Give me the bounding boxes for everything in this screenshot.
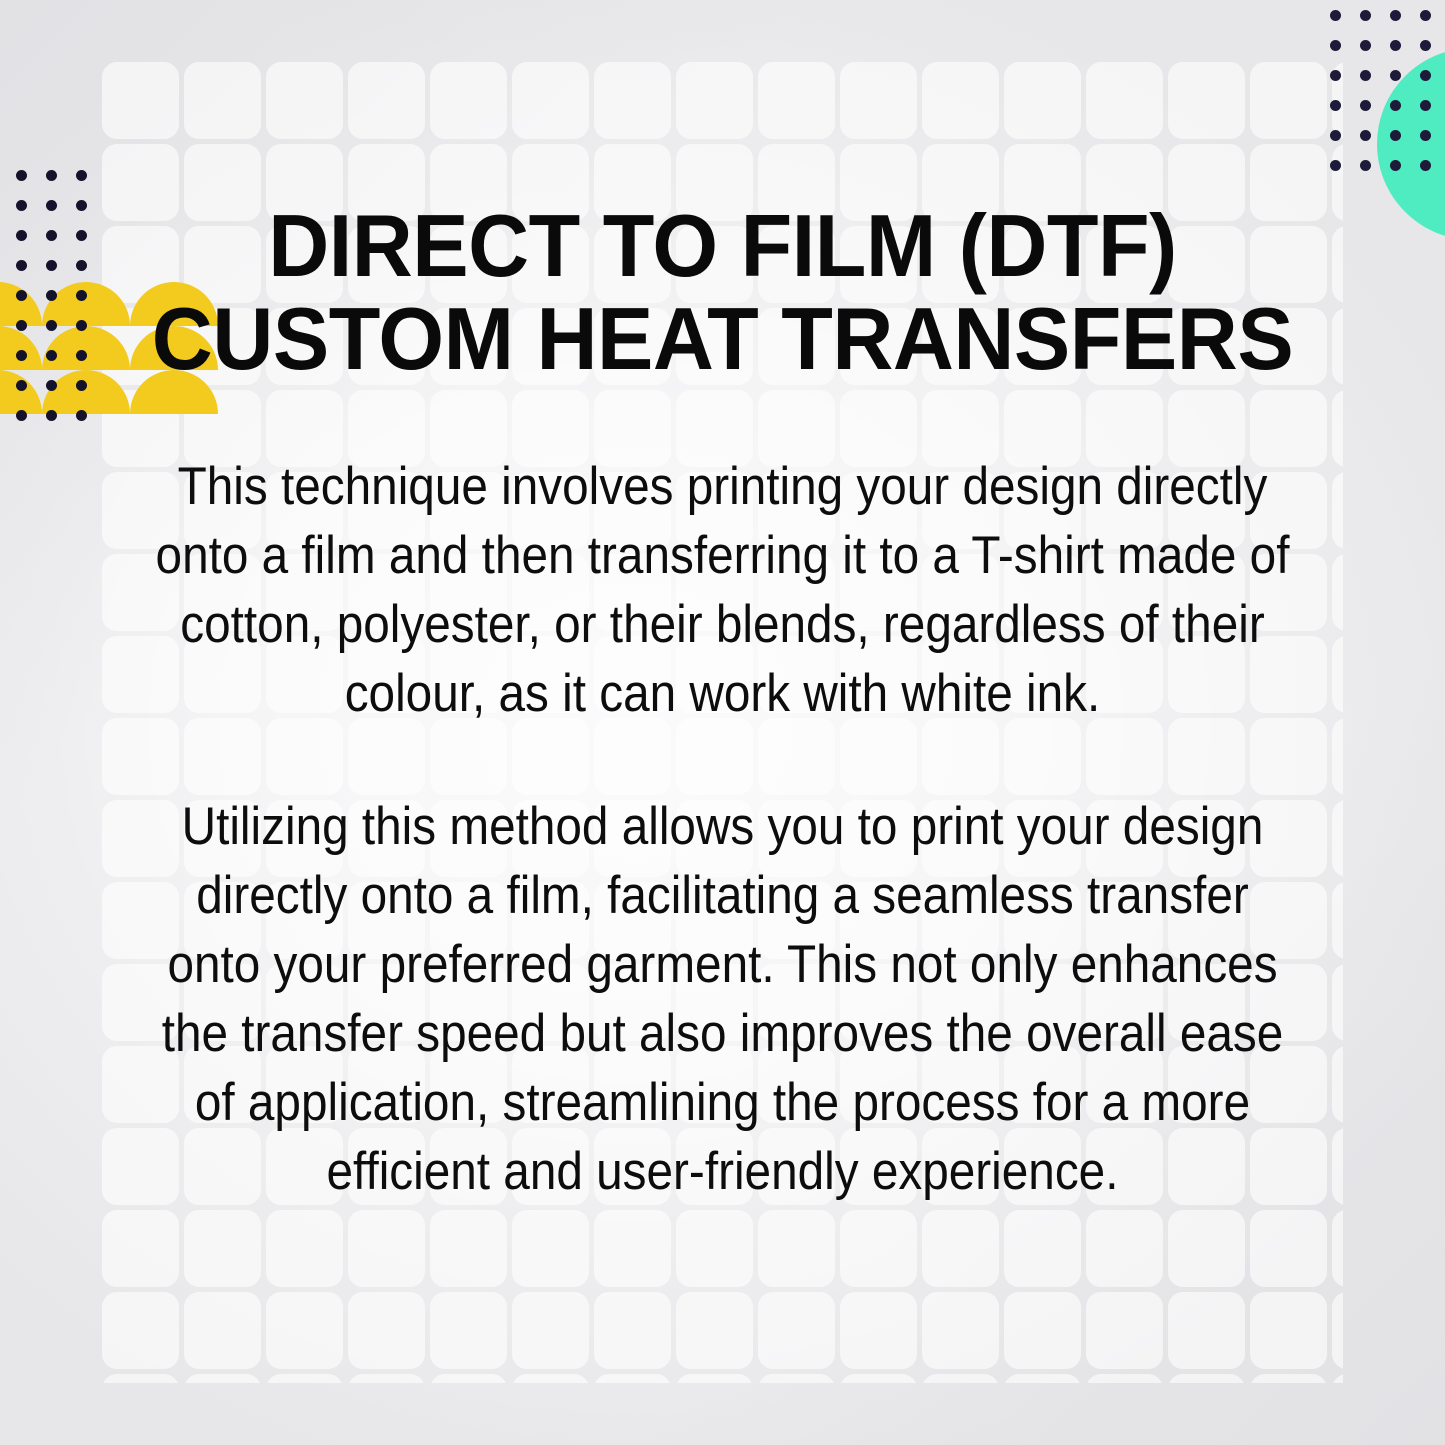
page-title-line-2: CUSTOM HEAT TRANSFERS bbox=[29, 292, 1416, 385]
body-text-block: This technique involves printing your de… bbox=[155, 452, 1290, 1206]
poster-canvas: DIRECT TO FILM (DTF) CUSTOM HEAT TRANSFE… bbox=[0, 0, 1445, 1445]
page-title-line-1: DIRECT TO FILM (DTF) bbox=[29, 199, 1416, 292]
page-title: DIRECT TO FILM (DTF) CUSTOM HEAT TRANSFE… bbox=[29, 199, 1416, 385]
body-paragraph-2: Utilizing this method allows you to prin… bbox=[155, 792, 1290, 1206]
body-paragraph-1: This technique involves printing your de… bbox=[155, 452, 1290, 728]
poster-content: DIRECT TO FILM (DTF) CUSTOM HEAT TRANSFE… bbox=[0, 0, 1445, 1445]
